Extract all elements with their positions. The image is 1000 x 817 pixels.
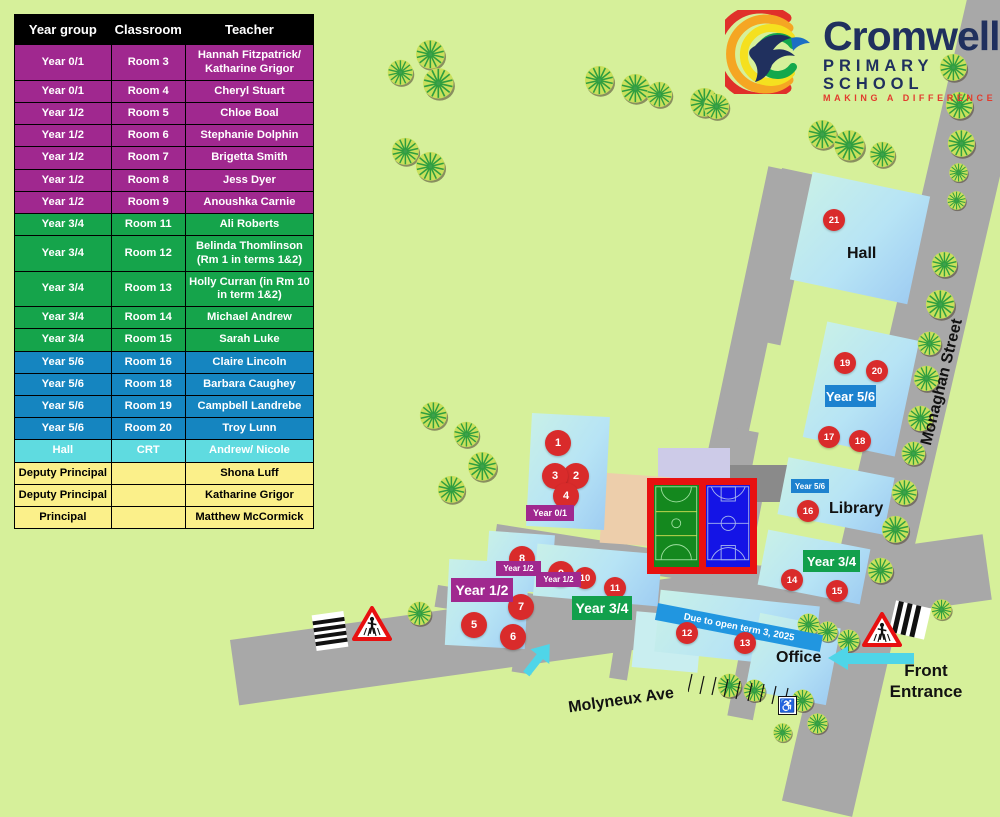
tree-icon (806, 712, 830, 736)
header-year-group: Year group (15, 15, 112, 45)
classroom-cell: Room 8 (111, 169, 185, 191)
year-group-cell: Year 5/6 (15, 418, 112, 440)
classroom-cell: Room 6 (111, 125, 185, 147)
teacher-cell: Jess Dyer (185, 169, 313, 191)
tree-icon (452, 420, 482, 450)
classroom-cell: Room 13 (111, 271, 185, 306)
teacher-cell: Claire Lincoln (185, 351, 313, 373)
year-group-cell: Year 3/4 (15, 329, 112, 351)
classroom-legend-table: Year group Classroom Teacher Year 0/1Roo… (14, 14, 314, 529)
year-group-cell: Year 5/6 (15, 373, 112, 395)
logo-tagline: MAKING A DIFFERENCE (823, 93, 1000, 104)
tree-icon (866, 556, 896, 586)
teacher-cell: Stephanie Dolphin (185, 125, 313, 147)
entrance-arrow-west (516, 640, 556, 689)
teacher-cell: Anoushka Carnie (185, 191, 313, 213)
tree-icon (583, 64, 617, 98)
tree-icon (880, 514, 912, 546)
basketball-court (706, 485, 751, 567)
teacher-cell: Andrew/ Nicole (185, 440, 313, 462)
room-marker[interactable]: 17 (818, 426, 840, 448)
table-row: Year 3/4Room 13Holly Curran (in Rm 10 in… (15, 271, 314, 306)
tree-icon (948, 162, 970, 184)
logo-emblem-icon (725, 10, 817, 94)
teacher-cell: Matthew McCormick (185, 507, 313, 529)
room-marker[interactable]: 15 (826, 580, 848, 602)
school-map-page: ♿ Due to open term 3, 2025 1234567891011… (0, 0, 1000, 750)
table-row: Year 5/6Room 16Claire Lincoln (15, 351, 314, 373)
netball-court (654, 485, 699, 567)
tree-icon (946, 190, 968, 212)
year-group-cell: Year 5/6 (15, 396, 112, 418)
classroom-cell: Room 11 (111, 214, 185, 236)
classroom-cell: Room 18 (111, 373, 185, 395)
year-group-cell: Year 3/4 (15, 307, 112, 329)
building-hall (790, 172, 930, 305)
year-group-cell: Year 3/4 (15, 236, 112, 271)
teacher-cell: Shona Luff (185, 462, 313, 484)
classroom-cell: Room 19 (111, 396, 185, 418)
teacher-cell: Ali Roberts (185, 214, 313, 236)
school-logo: Cromwell PRIMARY SCHOOL MAKING A DIFFERE… (725, 8, 985, 94)
year-group-cell: Year 0/1 (15, 80, 112, 102)
table-row: Year 3/4Room 14Michael Andrew (15, 307, 314, 329)
tree-icon (832, 128, 868, 164)
header-classroom: Classroom (111, 15, 185, 45)
table-row: Year 3/4Room 12Belinda Thomlinson (Rm 1 … (15, 236, 314, 271)
year-group-cell: Principal (15, 507, 112, 529)
pedestrian-crossing-sign-west (352, 606, 388, 639)
classroom-cell: Room 7 (111, 147, 185, 169)
tree-icon (645, 80, 675, 110)
classroom-cell: Room 15 (111, 329, 185, 351)
classroom-cell: Room 4 (111, 80, 185, 102)
classroom-cell (111, 484, 185, 506)
tree-icon (421, 66, 457, 102)
table-row: PrincipalMatthew McCormick (15, 507, 314, 529)
teacher-cell: Campbell Landrebe (185, 396, 313, 418)
tree-icon (890, 478, 920, 508)
teacher-cell: Hannah Fitzpatrick/ Katharine Grigor (185, 45, 313, 80)
tree-icon (418, 400, 450, 432)
tree-icon (414, 150, 448, 184)
year-group-cell: Hall (15, 440, 112, 462)
room-marker[interactable]: 14 (781, 569, 803, 591)
teacher-cell: Brigetta Smith (185, 147, 313, 169)
tree-icon (436, 474, 468, 506)
table-row: Deputy PrincipalShona Luff (15, 462, 314, 484)
year-group-tag: Year 5/6 (791, 479, 829, 493)
tree-icon (772, 722, 794, 744)
table-row: Year 5/6Room 20Troy Lunn (15, 418, 314, 440)
year-group-cell: Year 1/2 (15, 125, 112, 147)
year-group-tag: Year 0/1 (526, 505, 574, 521)
room-marker[interactable]: 19 (834, 352, 856, 374)
classroom-cell: Room 12 (111, 236, 185, 271)
year-group-cell: Year 3/4 (15, 214, 112, 236)
teacher-cell: Troy Lunn (185, 418, 313, 440)
building-label: Office (776, 649, 821, 667)
teacher-cell: Cheryl Stuart (185, 80, 313, 102)
year-group-cell: Year 1/2 (15, 102, 112, 124)
tree-icon (702, 92, 732, 122)
teacher-cell: Michael Andrew (185, 307, 313, 329)
sports-courts (647, 478, 757, 574)
classroom-cell: CRT (111, 440, 185, 462)
classroom-cell (111, 462, 185, 484)
tree-icon (466, 450, 500, 484)
logo-name: Cromwell (823, 16, 1000, 56)
building-label: Hall (847, 245, 876, 263)
wheelchair-icon: ♿ (778, 696, 797, 715)
year-group-tag: Year 5/6 (825, 385, 876, 407)
table-row: Year 1/2Room 7Brigetta Smith (15, 147, 314, 169)
room-marker[interactable]: 21 (823, 209, 845, 231)
room-marker[interactable]: 13 (734, 632, 756, 654)
room-marker[interactable]: 20 (866, 360, 888, 382)
table-row: Year 1/2Room 9Anoushka Carnie (15, 191, 314, 213)
year-group-cell: Deputy Principal (15, 484, 112, 506)
year-group-tag: Year 1/2 (496, 561, 541, 576)
table-row: Year 3/4Room 15Sarah Luke (15, 329, 314, 351)
table-row: Deputy PrincipalKatharine Grigor (15, 484, 314, 506)
year-group-cell: Year 1/2 (15, 169, 112, 191)
year-group-cell: Year 5/6 (15, 351, 112, 373)
teacher-cell: Belinda Thomlinson (Rm 1 in terms 1&2) (185, 236, 313, 271)
year-group-tag: Year 1/2 (536, 572, 581, 587)
year-group-cell: Deputy Principal (15, 462, 112, 484)
table-row: Year 5/6Room 18Barbara Caughey (15, 373, 314, 395)
table-row: Year 3/4Room 11Ali Roberts (15, 214, 314, 236)
header-teacher: Teacher (185, 15, 313, 45)
street-label-molyneux-ave: Molyneux Ave (567, 685, 675, 718)
room-marker[interactable]: 1 (545, 430, 571, 456)
teacher-cell: Barbara Caughey (185, 373, 313, 395)
room-marker[interactable]: 6 (500, 624, 526, 650)
room-marker[interactable]: 16 (797, 500, 819, 522)
teacher-cell: Sarah Luke (185, 329, 313, 351)
table-row: HallCRTAndrew/ Nicole (15, 440, 314, 462)
logo-subtitle: PRIMARY SCHOOL (823, 57, 1000, 93)
year-group-cell: Year 3/4 (15, 271, 112, 306)
table-row: Year 1/2Room 6Stephanie Dolphin (15, 125, 314, 147)
classroom-cell (111, 507, 185, 529)
classroom-cell: Room 5 (111, 102, 185, 124)
teacher-cell: Chloe Boal (185, 102, 313, 124)
table-row: Year 0/1Room 4Cheryl Stuart (15, 80, 314, 102)
classroom-cell: Room 16 (111, 351, 185, 373)
tree-icon (406, 600, 434, 628)
year-group-tag: Year 1/2 (451, 578, 513, 602)
year-group-cell: Year 0/1 (15, 45, 112, 80)
tree-icon (930, 598, 954, 622)
table-row: Year 1/2Room 8Jess Dyer (15, 169, 314, 191)
year-group-tag: Year 3/4 (572, 596, 632, 620)
year-group-cell: Year 1/2 (15, 147, 112, 169)
room-marker[interactable]: 12 (676, 622, 698, 644)
table-row: Year 5/6Room 19Campbell Landrebe (15, 396, 314, 418)
table-row: Year 1/2Room 5Chloe Boal (15, 102, 314, 124)
classroom-cell: Room 9 (111, 191, 185, 213)
tree-icon (386, 58, 416, 88)
pedestrian-crossing-sign-east (862, 612, 898, 645)
table-row: Year 0/1Room 3Hannah Fitzpatrick/ Kathar… (15, 45, 314, 80)
room-marker[interactable]: 18 (849, 430, 871, 452)
teacher-cell: Holly Curran (in Rm 10 in term 1&2) (185, 271, 313, 306)
table-header-row: Year group Classroom Teacher (15, 15, 314, 45)
room-marker[interactable]: 5 (461, 612, 487, 638)
front-entrance-label: Front Entrance (878, 660, 974, 702)
classroom-cell: Room 20 (111, 418, 185, 440)
building-label: Library (829, 500, 883, 518)
year-group-tag: Year 3/4 (803, 550, 860, 572)
zebra-crossing-west (312, 611, 349, 651)
teacher-cell: Katharine Grigor (185, 484, 313, 506)
tree-icon (868, 140, 898, 170)
classroom-cell: Room 14 (111, 307, 185, 329)
tree-icon (946, 128, 978, 160)
classroom-cell: Room 3 (111, 45, 185, 80)
year-group-cell: Year 1/2 (15, 191, 112, 213)
tree-icon (930, 250, 960, 280)
